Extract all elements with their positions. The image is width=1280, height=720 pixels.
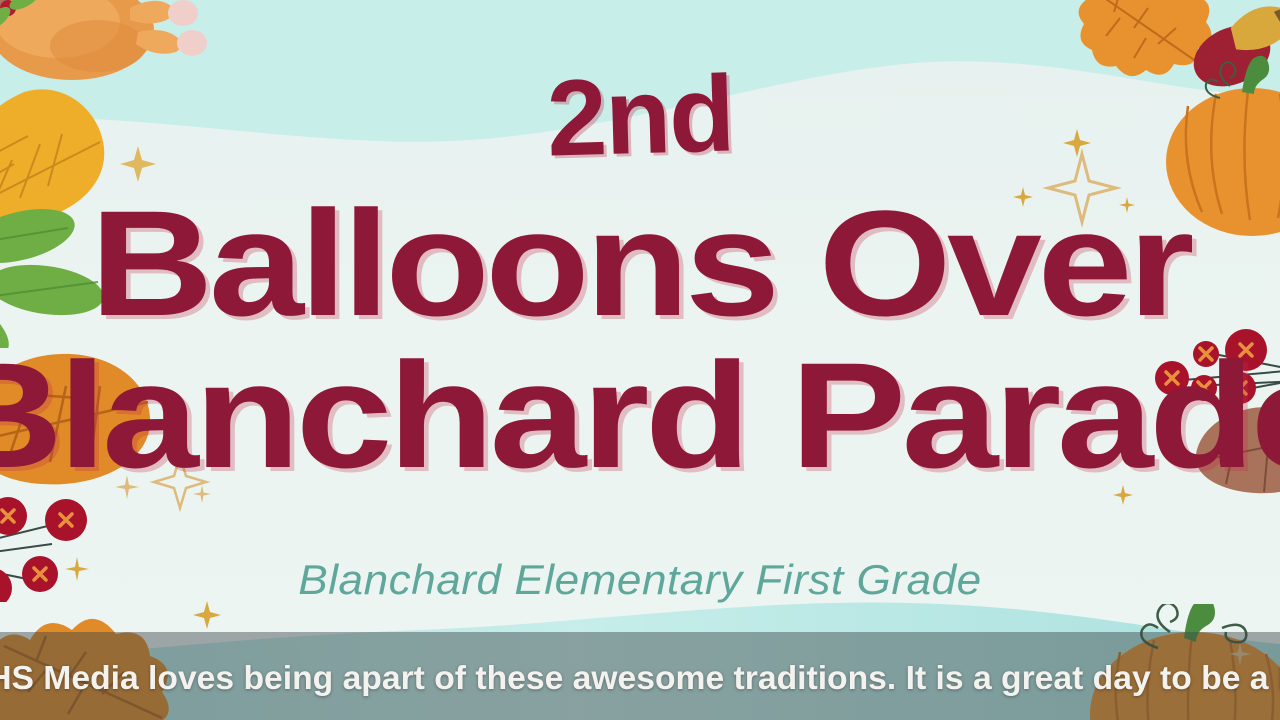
caption-text: HS Media loves being apart of these awes… bbox=[0, 656, 1280, 700]
title-line-2: Blanchard Parade bbox=[0, 340, 1280, 490]
subtitle: Blanchard Elementary First Grade bbox=[0, 556, 1280, 604]
video-frame: 2nd Balloons Over Blanchard Parade Blanc… bbox=[0, 0, 1280, 720]
title-line-1: Balloons Over bbox=[0, 188, 1280, 338]
